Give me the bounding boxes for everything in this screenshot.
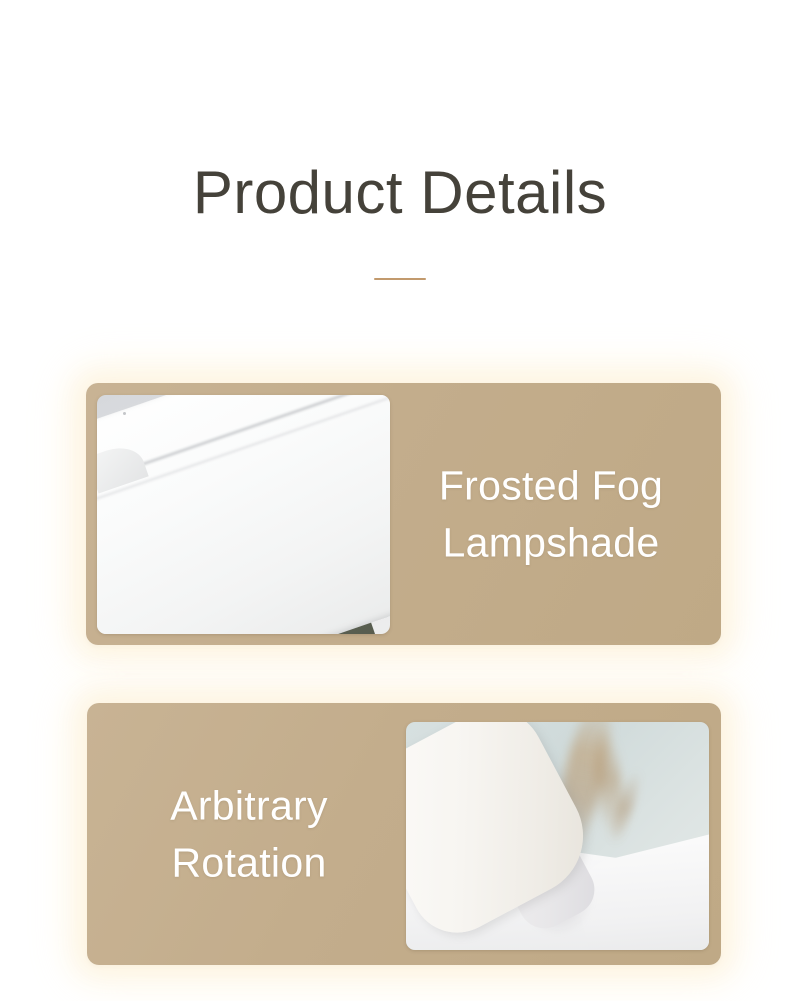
product-photo-rotation — [406, 722, 709, 950]
photo-rotation-art — [406, 722, 709, 950]
title-divider — [374, 278, 426, 280]
card-caption-arbitrary-rotation: Arbitrary Rotation — [99, 777, 399, 890]
product-details-page: Product Details Frosted Fog Lampshade Ar… — [0, 0, 800, 1001]
card-caption-frosted-fog-lampshade: Frosted Fog Lampshade — [395, 457, 707, 570]
detail-card-frosted-fog-lampshade: Frosted Fog Lampshade — [86, 383, 721, 645]
page-header: Product Details — [0, 0, 800, 280]
photo-lampshade-art — [97, 395, 390, 634]
product-photo-lampshade — [97, 395, 390, 634]
page-title: Product Details — [0, 0, 800, 223]
detail-card-arbitrary-rotation: Arbitrary Rotation — [87, 703, 721, 965]
